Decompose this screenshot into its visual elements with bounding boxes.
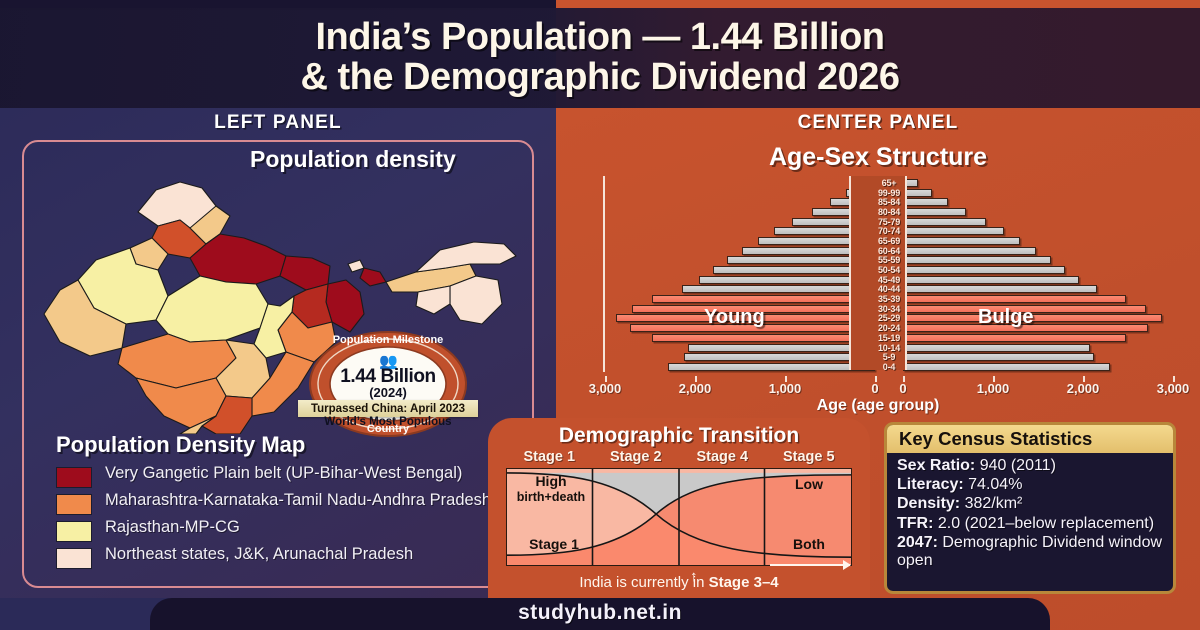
pyramid-age-label: 65+ bbox=[860, 178, 918, 188]
dt-label-both: Both bbox=[769, 537, 849, 552]
pyramid-row: 65-69 bbox=[606, 236, 1172, 246]
legend-item: Rajasthan-MP-CG bbox=[56, 518, 526, 542]
pyramid-bar-female bbox=[903, 353, 1094, 361]
pyramid-bar-male bbox=[652, 334, 875, 342]
population-pyramid-chart: 65+99-9985-8480-8475-7970-7465-6960-6455… bbox=[578, 176, 1178, 376]
pyramid-age-label: 25-29 bbox=[860, 313, 918, 323]
key-stat-row: Density: 382/km² bbox=[897, 495, 1163, 513]
pyramid-bar-male bbox=[652, 295, 875, 303]
pyramid-row: 40-44 bbox=[606, 285, 1172, 295]
legend-swatch-1 bbox=[56, 494, 92, 515]
badge-ribbon-text: Turpassed China: April 2023 bbox=[298, 400, 478, 417]
legend-label-0: Very Gangetic Plain belt (UP-Bihar-West … bbox=[105, 464, 462, 482]
pyramid-row: 70-74 bbox=[606, 226, 1172, 236]
pyramid-row: 10-14 bbox=[606, 343, 1172, 353]
dt-label-low: Low bbox=[769, 477, 849, 492]
pyramid-x-axis-title: Age (age group) bbox=[578, 397, 1178, 415]
dt-label-birth-death: birth+death bbox=[517, 490, 585, 504]
key-stat-row: Literacy: 74.04% bbox=[897, 476, 1163, 494]
pyramid-bar-female bbox=[903, 285, 1097, 293]
population-milestone-badge: Population Milestone 👥 1.44 Billion (202… bbox=[308, 330, 468, 438]
demographic-transition-stage-labels: Stage 1 Stage 2 Stage 4 Stage 5 bbox=[506, 449, 852, 465]
pyramid-y-axis bbox=[603, 176, 605, 372]
pyramid-row: 35-39 bbox=[606, 294, 1172, 304]
pyramid-row: 15-19 bbox=[606, 333, 1172, 343]
age-sex-structure-title: Age-Sex Structure bbox=[556, 143, 1200, 172]
center-panel-tag: CENTER PANEL bbox=[556, 112, 1200, 134]
legend-label-1: Maharashtra-Karnataka-Tamil Nadu-Andhra … bbox=[105, 491, 491, 509]
key-stat-value-1: 74.04% bbox=[964, 476, 1023, 493]
pyramid-bar-female bbox=[903, 334, 1126, 342]
dt-label-high: High bbox=[535, 473, 566, 489]
pyramid-x-tick-label: 3,000 bbox=[589, 381, 622, 396]
pyramid-bar-female bbox=[903, 266, 1065, 274]
pyramid-bar-female bbox=[903, 237, 1020, 245]
population-density-legend: Population Density Map Very Gangetic Pla… bbox=[56, 432, 526, 572]
key-stats-title: Key Census Statistics bbox=[887, 425, 1173, 453]
left-panel-tag: LEFT PANEL bbox=[0, 112, 556, 134]
key-stat-label-4: 2047: bbox=[897, 534, 938, 551]
pyramid-age-label: 5-9 bbox=[860, 352, 918, 362]
legend-item: Very Gangetic Plain belt (UP-Bihar-West … bbox=[56, 464, 526, 488]
key-stat-label-1: Literacy: bbox=[897, 476, 964, 493]
dt-note-prefix: India is currently in bbox=[579, 574, 708, 591]
pyramid-row: 50-54 bbox=[606, 265, 1172, 275]
pyramid-bar-female bbox=[903, 247, 1036, 255]
pyramid-age-label: 20-24 bbox=[860, 323, 918, 333]
pyramid-age-label: 30-34 bbox=[860, 304, 918, 314]
pyramid-x-tick-label: 0 bbox=[871, 381, 878, 396]
pyramid-age-label: 45-49 bbox=[860, 275, 918, 285]
pyramid-row: 30-34 bbox=[606, 304, 1172, 314]
dt-label-stage1-inner: Stage 1 bbox=[511, 537, 597, 552]
key-census-statistics-card: Key Census Statistics Sex Ratio: 940 (20… bbox=[884, 422, 1176, 594]
pyramid-row: 85-84 bbox=[606, 197, 1172, 207]
dt-stage-1: Stage 2 bbox=[593, 449, 680, 465]
pyramid-annotation-bulge: Bulge bbox=[978, 306, 1034, 329]
legend-item: Northeast states, J&K, Arunachal Pradesh bbox=[56, 545, 526, 569]
pyramid-bar-female bbox=[903, 295, 1126, 303]
pyramid-x-tick-label: 1,000 bbox=[977, 381, 1010, 396]
legend-label-2: Rajasthan-MP-CG bbox=[105, 518, 240, 536]
key-stats-body: Sex Ratio: 940 (2011) Literacy: 74.04% D… bbox=[887, 453, 1173, 570]
demographic-transition-card: Demographic Transition Stage 1 Stage 2 S… bbox=[488, 418, 870, 598]
key-stat-row: Sex Ratio: 940 (2011) bbox=[897, 457, 1163, 475]
key-stat-value-2: 382/km² bbox=[960, 495, 1022, 512]
population-density-subtitle: Population density bbox=[250, 146, 540, 173]
pyramid-bar-female bbox=[903, 363, 1110, 371]
pyramid-row: 80-84 bbox=[606, 207, 1172, 217]
pyramid-bar-male bbox=[688, 344, 875, 352]
pyramid-row: 65+ bbox=[606, 178, 1172, 188]
pyramid-age-label: 35-39 bbox=[860, 294, 918, 304]
pyramid-bar-female bbox=[903, 276, 1079, 284]
pyramid-x-tick-label: 0 bbox=[899, 381, 906, 396]
pyramid-rows: 65+99-9985-8480-8475-7970-7465-6960-6455… bbox=[606, 178, 1172, 372]
key-stat-label-3: TFR: bbox=[897, 515, 933, 532]
dt-label-high-birth-death: High birth+death bbox=[513, 474, 589, 504]
legend-swatch-0 bbox=[56, 467, 92, 488]
pyramid-age-label: 55-59 bbox=[860, 255, 918, 265]
key-stat-value-3: 2.0 (2021–below replacement) bbox=[933, 515, 1154, 532]
legend-item: Maharashtra-Karnataka-Tamil Nadu-Andhra … bbox=[56, 491, 526, 515]
pyramid-age-label: 15-19 bbox=[860, 333, 918, 343]
legend-swatch-3 bbox=[56, 548, 92, 569]
dt-note-stage: Stage 3–4 bbox=[709, 574, 779, 591]
badge-arc-top-text: Population Milestone bbox=[308, 334, 468, 346]
pyramid-row: 45-49 bbox=[606, 275, 1172, 285]
pyramid-row: 5-9 bbox=[606, 352, 1172, 362]
pyramid-row: 0-4 bbox=[606, 362, 1172, 372]
pyramid-row: 75-79 bbox=[606, 217, 1172, 227]
pyramid-bar-male bbox=[684, 353, 875, 361]
dt-stage-2: Stage 4 bbox=[679, 449, 766, 465]
pyramid-row: 20-24 bbox=[606, 323, 1172, 333]
pyramid-bar-female bbox=[903, 344, 1090, 352]
pyramid-x-tick-label: 2,000 bbox=[679, 381, 712, 396]
pyramid-age-label: 50-54 bbox=[860, 265, 918, 275]
pyramid-row: 99-99 bbox=[606, 188, 1172, 198]
pyramid-bar-female bbox=[903, 256, 1051, 264]
pyramid-age-label: 60-64 bbox=[860, 246, 918, 256]
key-stat-label-2: Density: bbox=[897, 495, 960, 512]
footer-site-name: studyhub.net.in bbox=[0, 601, 1200, 625]
pyramid-bar-male bbox=[668, 363, 875, 371]
pyramid-age-label: 10-14 bbox=[860, 343, 918, 353]
key-stat-label-0: Sex Ratio: bbox=[897, 457, 975, 474]
page-title-line1: India’s Population — 1.44 Billion bbox=[315, 16, 884, 58]
key-stat-row: TFR: 2.0 (2021–below replacement) bbox=[897, 515, 1163, 533]
pyramid-row: 55-59 bbox=[606, 256, 1172, 266]
pyramid-age-label: 85-84 bbox=[860, 197, 918, 207]
pyramid-bar-male bbox=[682, 285, 876, 293]
dt-stage-3: Stage 5 bbox=[766, 449, 853, 465]
pyramid-row: 60-64 bbox=[606, 246, 1172, 256]
pyramid-age-label: 99-99 bbox=[860, 188, 918, 198]
badge-year: (2024) bbox=[308, 385, 468, 400]
dt-stage-0: Stage 1 bbox=[506, 449, 593, 465]
pyramid-age-label: 80-84 bbox=[860, 207, 918, 217]
pyramid-age-label: 65-69 bbox=[860, 236, 918, 246]
pyramid-x-tick-label: 2,000 bbox=[1067, 381, 1100, 396]
pyramid-x-axis-labels: 3,0002,0001,000001,0002,0003,000 bbox=[578, 381, 1178, 397]
pyramid-annotation-young: Young bbox=[704, 306, 765, 329]
demographic-transition-title: Demographic Transition bbox=[488, 424, 870, 448]
legend-label-3: Northeast states, J&K, Arunachal Pradesh bbox=[105, 545, 413, 563]
pyramid-age-label: 75-79 bbox=[860, 217, 918, 227]
pyramid-age-label: 0-4 bbox=[860, 362, 918, 372]
pyramid-age-label: 40-44 bbox=[860, 284, 918, 294]
pyramid-age-label: 70-74 bbox=[860, 226, 918, 236]
pyramid-bar-female bbox=[903, 227, 1004, 235]
pyramid-x-tick-label: 3,000 bbox=[1157, 381, 1190, 396]
pyramid-x-tick-label: 1,000 bbox=[769, 381, 802, 396]
title-band: India’s Population — 1.44 Billion & the … bbox=[0, 8, 1200, 108]
legend-title: Population Density Map bbox=[56, 432, 526, 458]
key-stat-row: 2047: Demographic Dividend window open bbox=[897, 534, 1163, 570]
legend-swatch-2 bbox=[56, 521, 92, 542]
demographic-transition-plot: High birth+death Stage 1 Low Both bbox=[506, 468, 852, 566]
page-title-line2: & the Demographic Dividend 2026 bbox=[301, 56, 900, 98]
dt-progress-arrow-icon bbox=[770, 564, 850, 566]
demographic-transition-note: India is currently in Stage 3–4 bbox=[488, 574, 870, 591]
pyramid-row: 25-29 bbox=[606, 314, 1172, 324]
key-stat-value-0: 940 (2011) bbox=[975, 457, 1056, 474]
